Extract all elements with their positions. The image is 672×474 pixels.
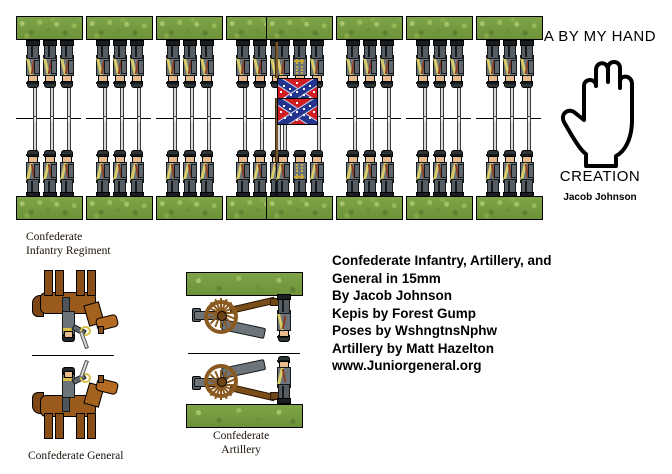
flag-star — [283, 85, 285, 87]
flag-star — [303, 108, 305, 110]
soldier-arm — [528, 60, 534, 74]
infantry-stand-mirrored — [156, 16, 221, 118]
boots — [96, 40, 110, 46]
soldier-arm — [388, 60, 394, 74]
flag-star — [296, 91, 298, 93]
kepi-brim — [503, 82, 515, 84]
logo-top-text: A BY MY HAND — [530, 28, 670, 45]
flag-star — [309, 105, 311, 107]
figure-row — [476, 122, 541, 200]
confederate-battle-flag-icon — [277, 98, 318, 125]
fold-divider-line — [16, 118, 81, 119]
stand-base — [86, 16, 153, 40]
boots — [60, 40, 74, 46]
horse-leg — [87, 270, 96, 296]
boots — [276, 40, 290, 46]
figure-row — [16, 122, 81, 200]
boots — [277, 294, 291, 300]
stand-base — [406, 16, 473, 40]
fold-divider-line — [336, 118, 401, 119]
soldier-arm — [208, 60, 214, 74]
stand-base — [406, 196, 473, 220]
flag-star — [290, 114, 292, 116]
figure-row-mirrored — [86, 38, 151, 116]
officer-button — [301, 164, 303, 166]
infantry-stand-upright — [406, 122, 471, 222]
fold-divider-line — [406, 118, 471, 119]
officer-button — [296, 69, 298, 71]
officer-button — [296, 66, 298, 68]
infantry-stand-upright — [86, 122, 151, 222]
horse-leg — [87, 413, 96, 439]
soldier-figure — [57, 122, 76, 200]
boots — [183, 40, 197, 46]
boots — [293, 40, 307, 46]
figure-row — [86, 122, 151, 200]
caption-general: Confederate General — [28, 449, 123, 463]
flag-star — [296, 102, 298, 104]
kepi-brim — [60, 82, 72, 84]
infantry-stand-mirrored — [86, 16, 151, 118]
stand-base — [336, 196, 403, 220]
soldier-arm — [138, 164, 144, 178]
soldier-arm — [458, 60, 464, 74]
boots — [166, 40, 180, 46]
officer-button — [301, 66, 303, 68]
wheel-hub — [217, 377, 227, 387]
flag-star — [283, 105, 285, 107]
kepi-brim — [253, 82, 265, 84]
stand-base — [266, 16, 333, 40]
hand-icon — [556, 48, 652, 175]
flag-star — [296, 82, 298, 84]
boots — [450, 40, 464, 46]
stand-base — [16, 196, 83, 220]
figure-row-mirrored — [476, 38, 541, 116]
stand-base — [266, 196, 333, 220]
soldier-figure — [377, 122, 396, 200]
fold-divider-line — [86, 118, 151, 119]
caption-infantry: Confederate Infantry Regiment — [26, 230, 111, 258]
figure-row-mirrored — [156, 38, 221, 116]
flag-star — [303, 94, 305, 96]
boots — [113, 40, 127, 46]
fold-divider-line — [476, 118, 541, 119]
boots — [310, 40, 324, 46]
officer-sash — [294, 176, 304, 178]
flag-star — [284, 117, 286, 119]
soldier-figure — [197, 122, 216, 200]
figure-row-mirrored — [406, 38, 471, 116]
officer-sash — [294, 60, 304, 62]
kepi-brim — [200, 82, 212, 84]
flag-star — [296, 111, 298, 113]
boots — [433, 40, 447, 46]
flag-star — [309, 117, 311, 119]
miniatures-sheet: A BY MY HAND CREATION Jacob Johnson Conf… — [0, 0, 672, 474]
soldier-figure — [197, 38, 216, 116]
figure-row — [156, 122, 221, 200]
rider-face — [64, 331, 73, 338]
artillery-crew-figure — [274, 294, 293, 342]
infantry-stand-upright — [156, 122, 221, 222]
kepi-brim — [43, 82, 55, 84]
infantry-stand-upright — [336, 122, 401, 222]
boots — [236, 40, 250, 46]
soldier-arm — [68, 164, 74, 178]
flag-star — [313, 91, 315, 93]
fold-divider-line — [188, 353, 300, 354]
rider-face — [64, 371, 73, 378]
figure-row — [336, 122, 401, 200]
officer-button — [296, 72, 298, 74]
caption-artillery: Confederate Artillery — [213, 429, 269, 457]
flag-star — [280, 91, 282, 93]
wheel-hub — [217, 311, 227, 321]
infantry-stand-mirrored — [406, 16, 471, 118]
boots — [253, 40, 267, 46]
stand-base — [156, 196, 223, 220]
boots — [416, 40, 430, 46]
figure-row-mirrored — [336, 38, 401, 116]
soldier-figure — [127, 38, 146, 116]
horse-leg — [76, 413, 85, 439]
kepi-brim — [433, 82, 445, 84]
soldier-figure — [517, 38, 536, 116]
credits-block: Confederate Infantry, Artillery, and Gen… — [332, 252, 552, 375]
fold-divider-line — [156, 118, 221, 119]
soldier-figure — [307, 122, 326, 200]
soldier-arm — [318, 60, 324, 74]
soldier-figure — [377, 38, 396, 116]
horse-leg — [55, 270, 64, 296]
officer-button — [296, 164, 298, 166]
figure-row — [406, 122, 471, 200]
horse-leg — [44, 270, 53, 296]
officer-button — [301, 72, 303, 74]
artillery-crew-figure — [274, 356, 293, 404]
infantry-stand-mirrored — [16, 16, 81, 118]
boots — [503, 40, 517, 46]
infantry-stand-upright — [16, 122, 81, 222]
fold-divider-line — [32, 355, 114, 356]
flag-star — [289, 88, 291, 90]
boots — [130, 40, 144, 46]
stand-base — [336, 16, 403, 40]
flag-pole — [275, 42, 278, 78]
kepi-brim — [96, 82, 108, 84]
logo-bottom-text: CREATION — [530, 168, 670, 185]
general-upright — [22, 362, 132, 437]
stand-base — [156, 16, 223, 40]
horse-leg — [44, 413, 53, 439]
boots — [380, 40, 394, 46]
infantry-stand-mirrored — [336, 16, 401, 118]
artillery-group — [186, 292, 301, 342]
boots — [363, 40, 377, 46]
officer-button — [301, 69, 303, 71]
flag-star — [309, 85, 311, 87]
kepi-brim — [450, 82, 462, 84]
kepi-brim — [183, 82, 195, 84]
kepi-brim — [520, 82, 532, 84]
soldier-arm — [68, 60, 74, 74]
mounted-general-figure — [22, 362, 132, 437]
cannon-wheel — [204, 364, 238, 398]
kepi-brim — [486, 82, 498, 84]
kepi-brim — [113, 82, 125, 84]
horse-ear — [98, 326, 104, 334]
boots — [486, 40, 500, 46]
soldier-figure — [517, 122, 536, 200]
flag-star — [289, 108, 291, 110]
kepi-brim — [26, 82, 38, 84]
stand-base — [86, 196, 153, 220]
flag-star — [313, 111, 315, 113]
soldier-arm — [388, 164, 394, 178]
boots — [26, 40, 40, 46]
kepi-brim — [363, 82, 375, 84]
cannon-wheel — [204, 300, 238, 334]
artillery-stand-mirrored — [186, 272, 301, 346]
soldier-figure — [57, 38, 76, 116]
logo-author: Jacob Johnson — [530, 192, 670, 203]
horse-leg — [55, 413, 64, 439]
boots — [346, 40, 360, 46]
artillery-group — [186, 356, 301, 406]
infantry-stand-upright — [266, 122, 331, 222]
leg-gap — [282, 299, 284, 312]
kepi-brim — [416, 82, 428, 84]
flag-star — [303, 88, 305, 90]
figure-row-mirrored — [16, 38, 81, 116]
stand-base — [16, 16, 83, 40]
soldier-arm — [458, 164, 464, 178]
stand-base — [186, 404, 303, 428]
kepi-brim — [380, 82, 392, 84]
kepi-brim — [346, 82, 358, 84]
horse-ear — [98, 375, 104, 383]
soldier-figure — [127, 122, 146, 200]
boots — [200, 40, 214, 46]
general-mirrored — [22, 272, 132, 347]
soldier-figure — [447, 38, 466, 116]
kepi-brim — [130, 82, 142, 84]
flag-star — [280, 111, 282, 113]
horse-leg — [76, 270, 85, 296]
flag-star — [303, 114, 305, 116]
soldier-arm — [208, 164, 214, 178]
mounted-general-figure — [22, 272, 132, 347]
kepi-brim — [166, 82, 178, 84]
soldier-figure — [447, 122, 466, 200]
flag-star — [290, 94, 292, 96]
kepi-brim — [236, 82, 248, 84]
flag-star — [296, 119, 298, 121]
boots — [43, 40, 57, 46]
soldier-arm — [318, 164, 324, 178]
artillery-stand-upright — [186, 356, 301, 430]
soldier-arm — [138, 60, 144, 74]
